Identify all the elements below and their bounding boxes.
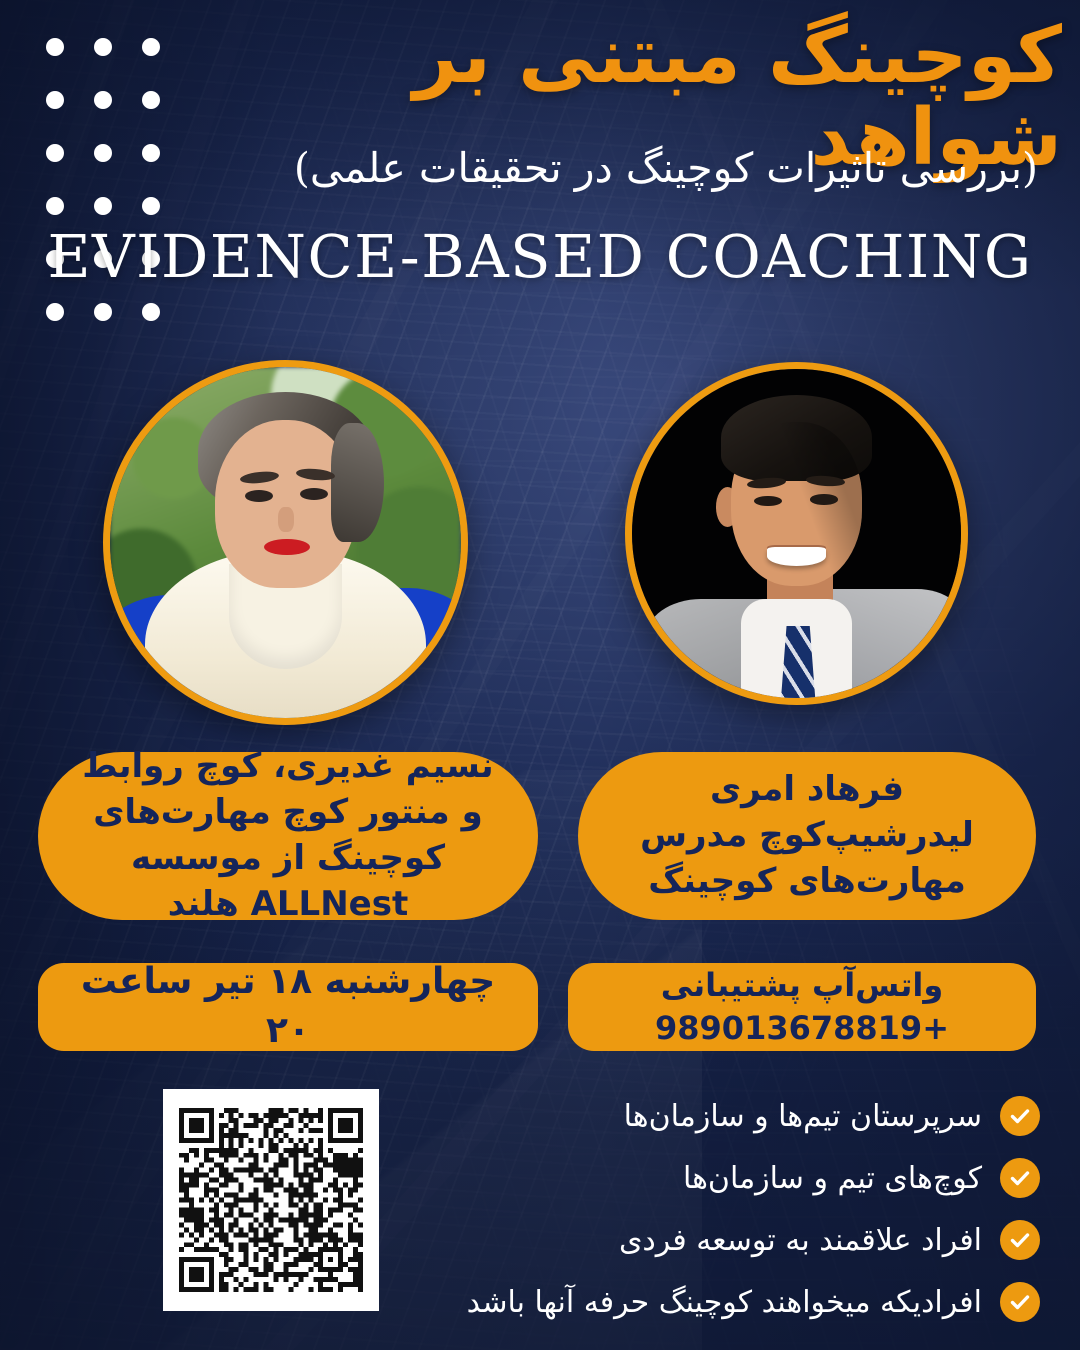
decorative-dot [94, 91, 112, 109]
photo-eye-right [810, 494, 838, 505]
list-item: افرادیکه میخواهند کوچینگ حرفه آنها باشد [380, 1282, 1040, 1322]
check-circle-icon [1000, 1096, 1040, 1136]
page-subtitle: (بررسی تاثیرات کوچینگ در تحقیقات علمی) [138, 143, 1038, 194]
qr-code[interactable] [163, 1089, 379, 1311]
photo-eye-left [245, 490, 273, 502]
check-circle-icon [1000, 1282, 1040, 1322]
list-item: سرپرستان تیم‌ها و سازمان‌ها [380, 1096, 1040, 1136]
decorative-dot [46, 303, 64, 321]
avatar [110, 367, 461, 718]
audience-item-label: افراد علاقمند به توسعه فردی [619, 1223, 982, 1258]
decorative-dot [46, 91, 64, 109]
speaker-badge-right: فرهاد امری لیدرشیپ‌کوچ مدرس مهارت‌های کو… [578, 752, 1036, 920]
decorative-dot [142, 303, 160, 321]
list-item: کوچ‌های تیم و سازمان‌ها [380, 1158, 1040, 1198]
decorative-dot [94, 38, 112, 56]
decorative-dot [46, 197, 64, 215]
photo-eye-right [300, 488, 328, 500]
audience-list: سرپرستان تیم‌ها و سازمان‌هاکوچ‌های تیم و… [380, 1096, 1040, 1322]
decorative-dot [94, 144, 112, 162]
poster-root: کوچینگ مبتنی بر شواهد (بررسی تاثیرات کوچ… [0, 0, 1080, 1350]
speaker-photo-left [103, 360, 468, 725]
photo-nose [278, 507, 294, 532]
avatar [632, 369, 961, 698]
audience-item-label: کوچ‌های تیم و سازمان‌ها [683, 1161, 982, 1196]
decorative-dot [94, 197, 112, 215]
audience-item-label: سرپرستان تیم‌ها و سازمان‌ها [624, 1099, 982, 1134]
decorative-dot [46, 144, 64, 162]
decorative-dot [94, 303, 112, 321]
audience-item-label: افرادیکه میخواهند کوچینگ حرفه آنها باشد [467, 1285, 982, 1320]
qr-code-icon [179, 1108, 363, 1292]
speaker-badge-left: نسیم غدیری، کوچ روابط و منتور کوچ مهارت‌… [38, 752, 538, 920]
speaker-photo-right [625, 362, 968, 705]
check-circle-icon [1000, 1220, 1040, 1260]
list-item: افراد علاقمند به توسعه فردی [380, 1220, 1040, 1260]
whatsapp-support-badge[interactable]: واتس‌آپ پشتیبانی +989013678819 [568, 963, 1036, 1051]
decorative-dot [142, 197, 160, 215]
photo-hair-side [331, 423, 384, 542]
event-date-badge: چهارشنبه ۱۸ تیر ساعت ۲۰ [38, 963, 538, 1051]
check-circle-icon [1000, 1158, 1040, 1198]
photo-eye-left [754, 496, 782, 507]
decorative-dot [46, 38, 64, 56]
photo-lips [264, 539, 310, 555]
dot-grid-decoration [16, 38, 160, 356]
page-title-english: EVIDENCE-BASED COACHING [0, 222, 1080, 291]
